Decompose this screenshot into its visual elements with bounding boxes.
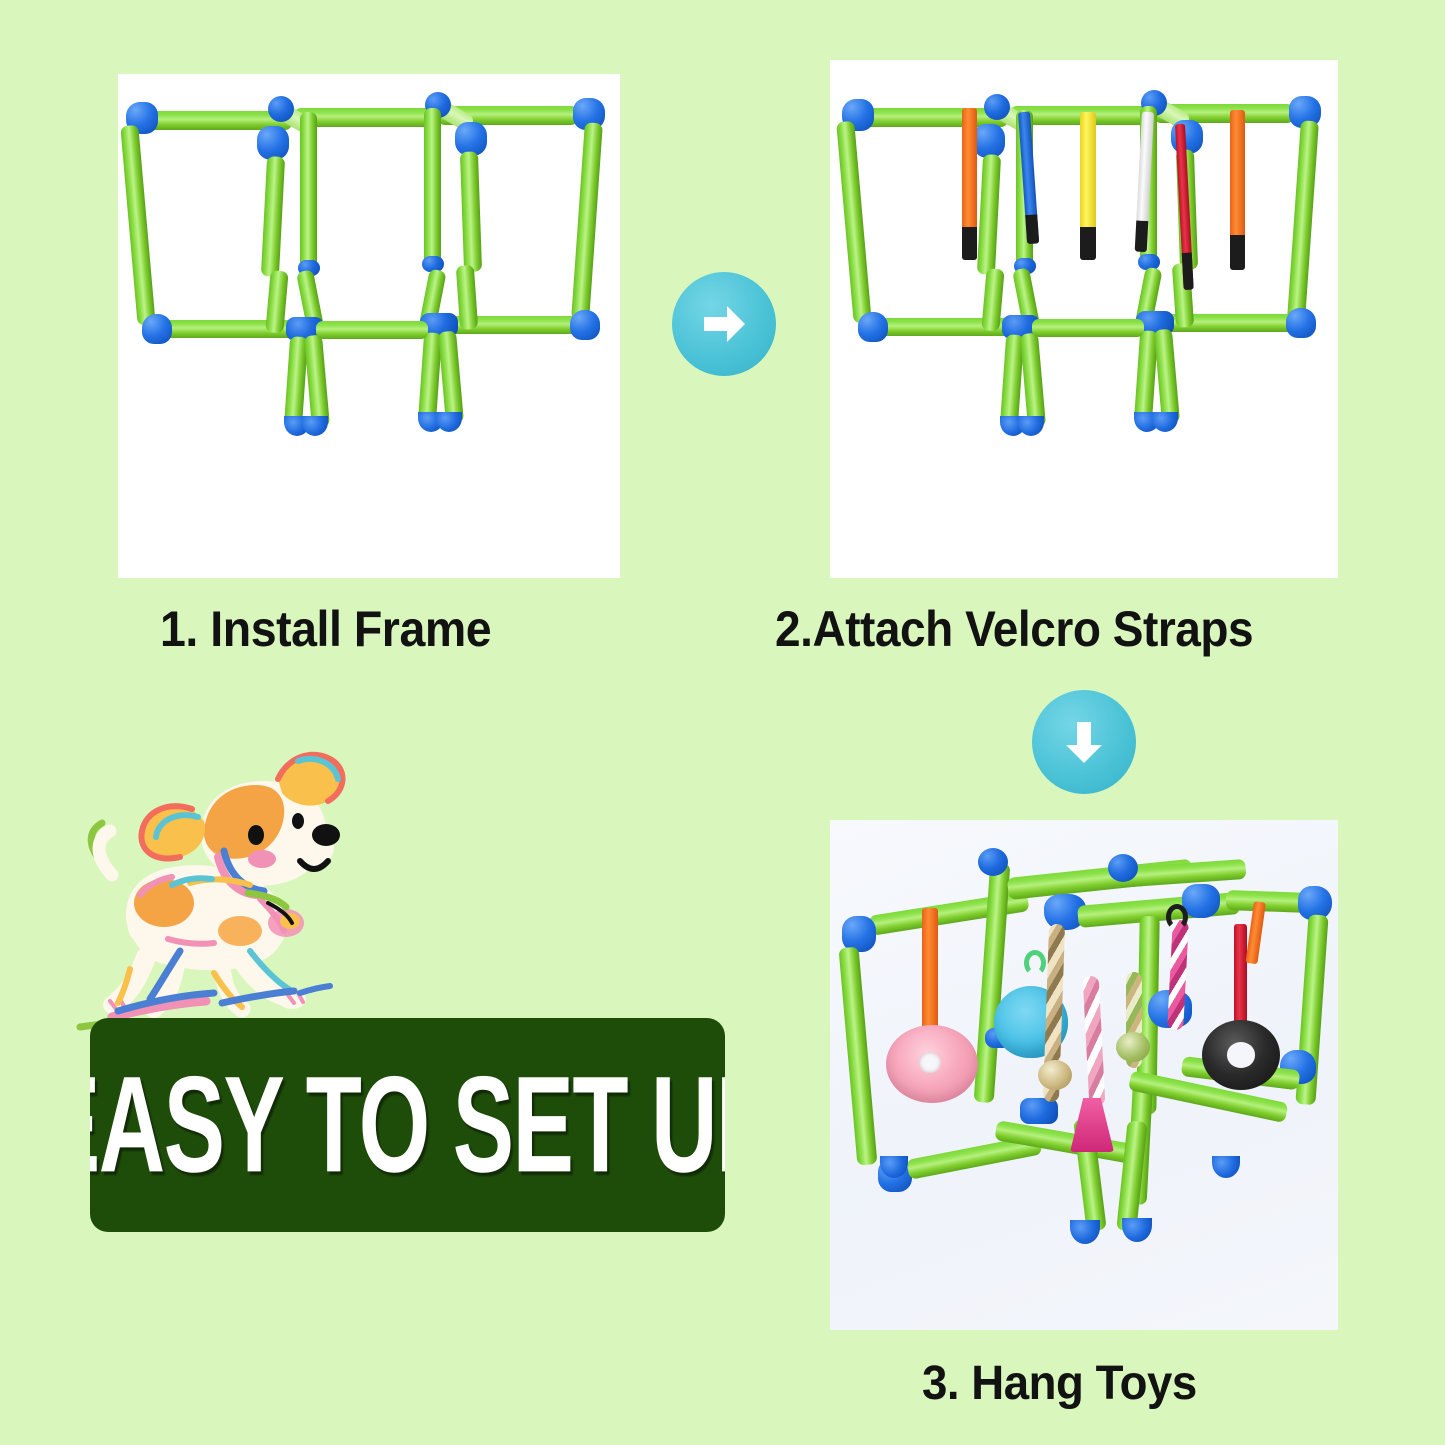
velcro-strap-yellow-center	[1080, 112, 1096, 260]
pipe-inner-left-vert2	[300, 112, 317, 272]
step-3-caption: 3. Hang Toys	[922, 1356, 1197, 1411]
cap-leg-left-b	[302, 416, 328, 436]
velcro-strap-orange-right	[1230, 110, 1245, 270]
assembled-toy-gym-photo	[830, 820, 1338, 1330]
pipe-left-upright	[836, 121, 872, 324]
cap-right-leg	[1212, 1156, 1240, 1178]
joint-inner-left-top	[268, 96, 294, 122]
step-3-photo-panel	[830, 820, 1338, 1330]
pipe-left-upright	[120, 125, 155, 326]
strap-tip	[1182, 253, 1194, 290]
joint-inner-left-top	[984, 94, 1010, 120]
strap-tip	[1025, 214, 1039, 244]
elbow-bottom-left	[858, 312, 888, 342]
pipe-inner-right-lower	[456, 265, 478, 330]
velcro-strap-orange-left	[962, 108, 977, 260]
cap-front-leg-a	[1070, 1220, 1100, 1244]
cap-leg-right-b	[436, 412, 462, 432]
elbow-inner-left	[973, 124, 1005, 158]
running-cartoon-dog-illustration	[72, 735, 412, 1055]
elbow-bottom-left	[142, 314, 172, 344]
pipe-bottom-center-rail	[1032, 319, 1144, 337]
arrow-right-icon	[672, 272, 776, 376]
cap-front-leg-b	[1122, 1218, 1152, 1242]
strap-tip	[962, 227, 977, 260]
pipe-inner-right-vert2	[424, 108, 441, 268]
toy-strap-orange-donut	[922, 908, 938, 1038]
elbow-right-back-top	[1182, 884, 1220, 918]
toy-rope-knot	[1038, 1060, 1072, 1090]
carabiner-clip-black	[1166, 904, 1188, 930]
pipe-inner-left-upright	[977, 154, 1001, 275]
pipe-leg-left-b	[304, 335, 330, 428]
pipe-right-bottom-rail	[1152, 314, 1300, 332]
toy-black-tire-ring	[1202, 1020, 1280, 1090]
pvc-frame-illustration	[118, 74, 620, 578]
pipe-right-bottom-rail	[436, 316, 584, 334]
pipe-back-left-upright	[839, 947, 878, 1166]
pipe-leg-left-b	[1020, 333, 1046, 428]
pipe-leg-right-b	[438, 331, 464, 424]
pipe-leg-right-b	[1154, 329, 1180, 424]
step-1-caption: 1. Install Frame	[160, 600, 491, 658]
toy-pink-donut-plush	[886, 1025, 978, 1103]
elbow-inner-left	[257, 126, 289, 160]
pipe-bottom-center-rail	[316, 321, 428, 339]
toy-rope-ball-green	[1116, 1032, 1150, 1062]
strap-tip	[1080, 227, 1096, 260]
step-2-caption: 2.Attach Velcro Straps	[775, 600, 1253, 658]
cap-leg-left-b	[1018, 416, 1044, 436]
toy-pink-white-tug-rope	[1083, 976, 1106, 1107]
step-1-photo-panel	[118, 74, 620, 578]
easy-to-set-up-banner: EASY TO SET UP	[90, 1018, 725, 1232]
elbow-bottom-right	[570, 310, 600, 340]
strap-tip	[1230, 235, 1245, 270]
elbow-bottom-right	[1286, 308, 1316, 338]
carabiner-clip-green	[1024, 950, 1046, 976]
cap-leg-right-b	[1152, 412, 1178, 432]
pipe-right-upright	[571, 122, 603, 321]
pipe-right-upright	[1287, 120, 1319, 321]
pipe-inner-right-upright	[460, 151, 482, 272]
banner-text: EASY TO SET UP	[90, 1057, 725, 1194]
pipe-inner-left-upright	[261, 156, 285, 277]
joint-front-left-top	[978, 848, 1008, 876]
joint-right-back-top	[1108, 854, 1138, 882]
strap-tip	[1135, 221, 1149, 252]
step-2-photo-panel	[830, 60, 1338, 578]
pvc-frame-with-straps-illustration	[830, 60, 1338, 578]
arrow-down-icon	[1032, 690, 1136, 794]
